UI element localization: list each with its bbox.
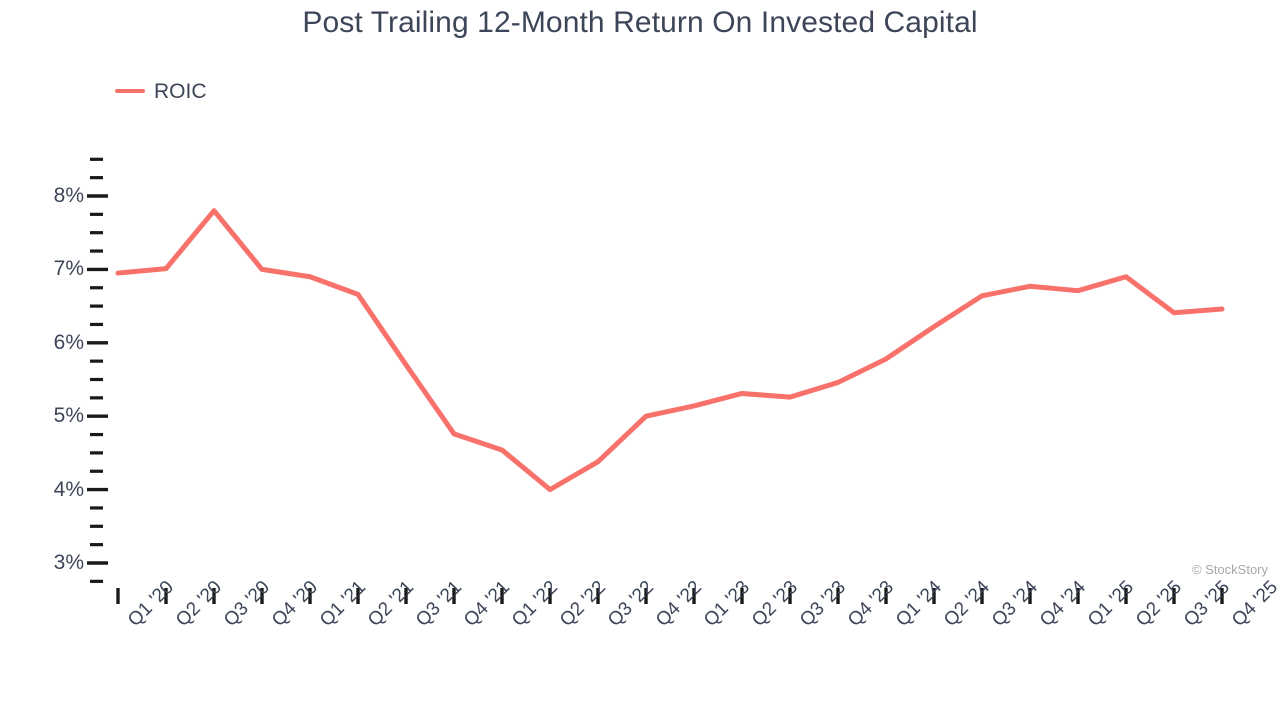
x-tick-label: Q4 '22 <box>652 577 707 632</box>
x-tick-label: Q2 '23 <box>748 577 803 632</box>
x-tick-label: Q4 '21 <box>460 577 515 632</box>
x-tick-label: Q3 '23 <box>796 577 851 632</box>
x-tick-label: Q2 '22 <box>556 577 611 632</box>
x-tick-label: Q1 '24 <box>892 577 947 632</box>
x-tick-label: Q2 '21 <box>364 577 419 632</box>
x-tick-label: Q4 '23 <box>844 577 899 632</box>
x-tick-label: Q3 '24 <box>988 577 1043 632</box>
x-tick-label: Q3 '20 <box>220 577 275 632</box>
x-tick-label: Q2 '25 <box>1132 577 1187 632</box>
x-tick-label: Q2 '24 <box>940 577 995 632</box>
x-tick-label: Q4 '25 <box>1228 577 1280 632</box>
x-tick-label: Q3 '25 <box>1180 577 1235 632</box>
x-tick-label: Q1 '21 <box>316 577 371 632</box>
x-tick-label: Q3 '22 <box>604 577 659 632</box>
x-tick-label: Q4 '24 <box>1036 577 1091 632</box>
x-tick-label: Q1 '25 <box>1084 577 1139 632</box>
watermark: © StockStory <box>1192 562 1268 577</box>
x-tick-label: Q2 '20 <box>172 577 227 632</box>
x-tick-label: Q1 '20 <box>124 577 179 632</box>
chart-page: Post Trailing 12-Month Return On Investe… <box>0 0 1280 720</box>
x-tick-label: Q1 '23 <box>700 577 755 632</box>
x-tick-label: Q3 '21 <box>412 577 467 632</box>
x-axis-labels: Q1 '20Q2 '20Q3 '20Q4 '20Q1 '21Q2 '21Q3 '… <box>0 0 1280 720</box>
x-tick-label: Q1 '22 <box>508 577 563 632</box>
x-tick-label: Q4 '20 <box>268 577 323 632</box>
